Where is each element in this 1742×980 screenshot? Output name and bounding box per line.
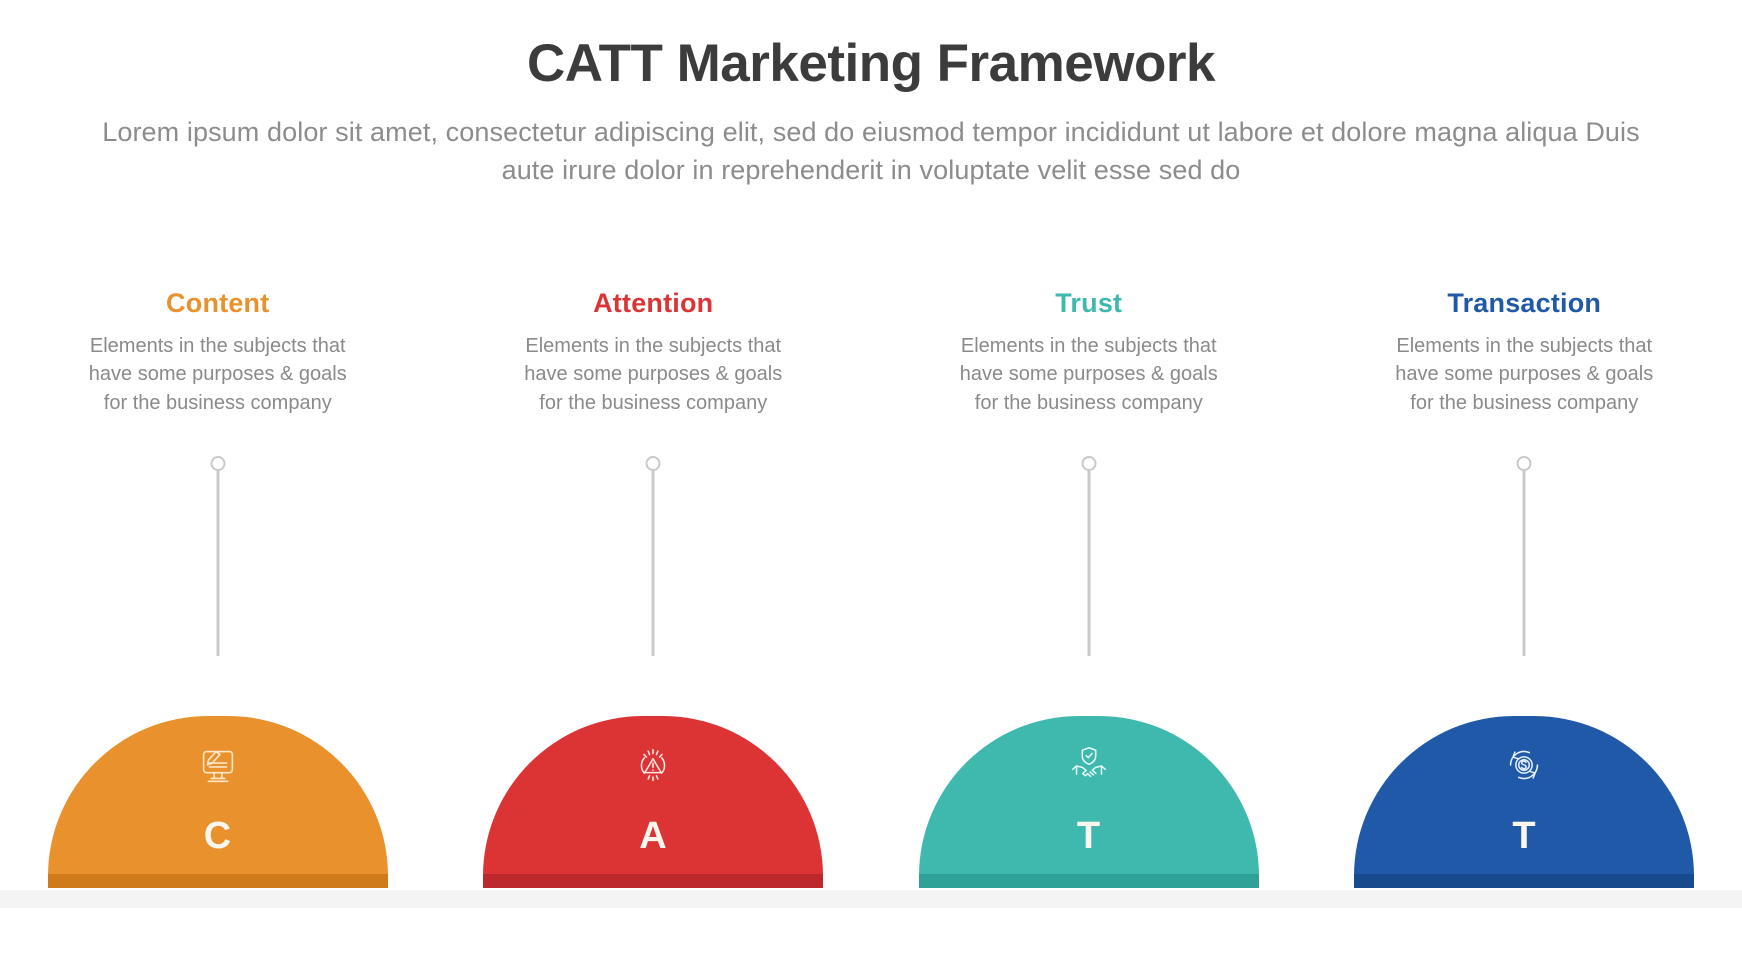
dome-base-attention [483, 874, 823, 888]
page-subtitle: Lorem ipsum dolor sit amet, consectetur … [91, 113, 1651, 190]
alert-triangle-icon [630, 742, 676, 788]
framework-column-attention[interactable]: Attention Elements in the subjects that … [436, 288, 872, 978]
floor-band [0, 890, 1742, 908]
column-title-content: Content [0, 288, 436, 319]
header: CATT Marketing Framework Lorem ipsum dol… [0, 34, 1742, 190]
dome-letter-attention: A [483, 815, 823, 858]
dome-base-content [48, 874, 388, 888]
connector-stem [1087, 470, 1090, 656]
connector-attention [642, 456, 664, 656]
connector-dot-icon [646, 456, 661, 471]
column-description-content: Elements in the subjects that have some … [63, 332, 373, 417]
connector-dot-icon [1517, 456, 1532, 471]
column-title-transaction: Transaction [1307, 288, 1742, 319]
dome-trust[interactable]: T [919, 716, 1259, 888]
dome-letter-trust: T [919, 815, 1259, 858]
connector-transaction [1513, 456, 1535, 656]
connector-stem [216, 470, 219, 656]
dome-base-trust [919, 874, 1259, 888]
column-title-attention: Attention [436, 288, 872, 319]
page-title: CATT Marketing Framework [0, 34, 1742, 95]
connector-stem [1523, 470, 1526, 656]
connector-trust [1078, 456, 1100, 656]
framework-column-transaction[interactable]: Transaction Elements in the subjects tha… [1307, 288, 1742, 978]
column-description-attention: Elements in the subjects that have some … [498, 332, 808, 417]
dome-letter-content: C [48, 815, 388, 858]
framework-column-content[interactable]: Content Elements in the subjects that ha… [0, 288, 436, 978]
connector-dot-icon [1081, 456, 1096, 471]
framework-columns: Content Elements in the subjects that ha… [0, 288, 1742, 978]
framework-column-trust[interactable]: Trust Elements in the subjects that have… [871, 288, 1307, 978]
dome-base-transaction [1354, 874, 1694, 888]
column-title-trust: Trust [871, 288, 1307, 319]
dome-letter-transaction: T [1354, 815, 1694, 858]
money-cycle-icon [1501, 742, 1547, 788]
column-description-trust: Elements in the subjects that have some … [934, 332, 1244, 417]
handshake-shield-icon [1066, 742, 1112, 788]
infographic-canvas: CATT Marketing Framework Lorem ipsum dol… [0, 0, 1742, 980]
connector-dot-icon [210, 456, 225, 471]
column-description-transaction: Elements in the subjects that have some … [1369, 332, 1679, 417]
dome-content[interactable]: C [48, 716, 388, 888]
dome-attention[interactable]: A [483, 716, 823, 888]
connector-stem [652, 470, 655, 656]
monitor-pen-icon [195, 742, 241, 788]
dome-transaction[interactable]: T [1354, 716, 1694, 888]
connector-content [207, 456, 229, 656]
